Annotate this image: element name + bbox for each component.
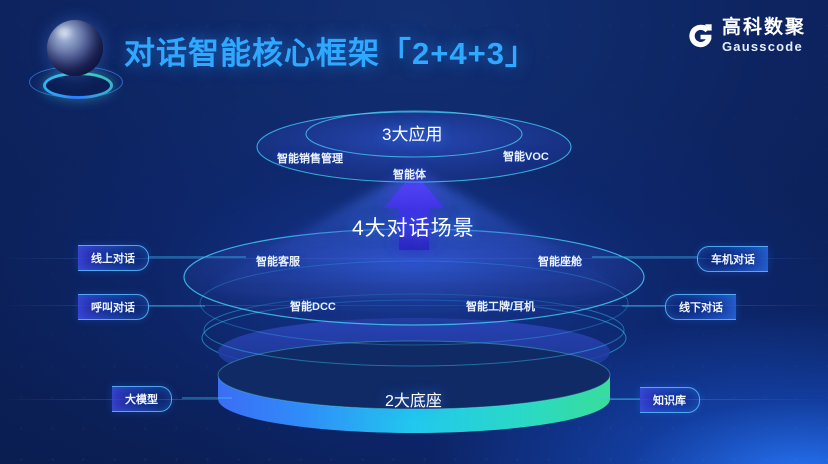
tag-call-dialogue[interactable]: 呼叫对话: [78, 294, 149, 320]
slide-canvas: 对话智能核心框架「2+4+3」 高科数聚 Gausscode: [0, 0, 828, 464]
label-agent: 智能体: [393, 166, 426, 182]
orb-sphere-icon: [47, 20, 103, 76]
label-smart-sales-management: 智能销售管理: [277, 150, 343, 166]
label-smart-voc: 智能VOC: [503, 148, 549, 164]
label-smart-badge-headset: 智能工牌/耳机: [466, 298, 535, 314]
orb-inner-ring-icon: [43, 72, 113, 99]
label-smart-dcc: 智能DCC: [290, 298, 336, 314]
tag-invehicle-dialogue[interactable]: 车机对话: [697, 246, 768, 272]
brand-logo[interactable]: 高科数聚 Gausscode: [686, 18, 806, 53]
tag-online-dialogue[interactable]: 线上对话: [78, 245, 149, 271]
applications-title: 3大应用: [382, 120, 442, 145]
gausscode-g-icon: [686, 22, 714, 50]
header-orb-logo: [26, 16, 122, 102]
page-title: 对话智能核心框架「2+4+3」: [124, 28, 537, 73]
brand-name-cn: 高科数聚: [722, 18, 806, 37]
label-smart-customer-service: 智能客服: [256, 253, 300, 269]
tag-large-model[interactable]: 大模型: [112, 386, 172, 412]
scenarios-disc: [184, 229, 644, 345]
brand-name-en: Gausscode: [722, 40, 806, 53]
scenarios-title: 4大对话场景: [352, 212, 475, 242]
foundation-cylinder: [202, 294, 626, 433]
slide-header: 对话智能核心框架「2+4+3」 高科数聚 Gausscode: [0, 0, 828, 108]
tag-offline-dialogue[interactable]: 线下对话: [665, 294, 736, 320]
foundation-title: 2大底座: [385, 387, 442, 411]
label-smart-cockpit: 智能座舱: [538, 253, 582, 269]
tag-knowledge-base[interactable]: 知识库: [640, 387, 700, 413]
